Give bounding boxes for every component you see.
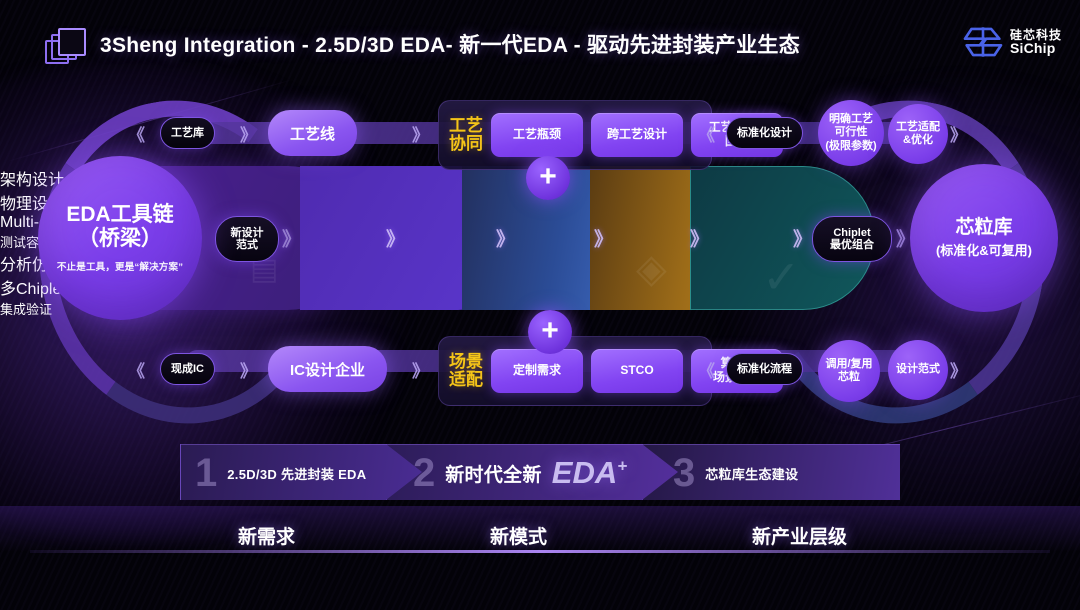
base-label-new-demand: 新需求 [238, 522, 295, 549]
flow-node-process-line[interactable]: 工艺线 [268, 110, 357, 156]
flow-back-arrow: 《 [698, 121, 715, 146]
plus-badge-bottom[interactable]: + [528, 310, 572, 354]
base-divider [30, 550, 1050, 553]
flow-group-title: 场景适配 [449, 353, 483, 390]
flow-arrow: 》 [240, 121, 257, 146]
end-node-eda-toolchain[interactable]: EDA工具链 （桥梁） 不止是工具，更是“解决方案” [38, 156, 202, 320]
band-chevron: 》 [496, 225, 515, 252]
roadmap-step-3[interactable]: 3 芯粒库生态建设 [642, 444, 902, 502]
flow-bubble-process-feasibility[interactable]: 明确工艺 可行性 (极限参数) [818, 100, 884, 166]
flow-chip-cross-process-design[interactable]: 跨工艺设计 [591, 113, 683, 157]
flow-arrow: 》 [412, 121, 429, 146]
base-label-new-model: 新模式 [490, 522, 547, 549]
flow-arrow: 》 [950, 121, 967, 146]
roadmap-step-2[interactable]: 2 新时代全新 EDA+ [386, 444, 688, 502]
base-label-new-industry-tier: 新产业层级 [752, 522, 847, 549]
flow-bubble-process-optimization[interactable]: 工艺适配 &优化 [888, 104, 948, 164]
flow-pill-standardized-process[interactable]: 标准化流程 [726, 353, 803, 385]
flow-bubble-reuse-chiplet[interactable]: 调用/复用 芯粒 [818, 340, 880, 402]
flow-bubble-design-paradigm[interactable]: 设计范式 [888, 340, 948, 400]
end-node-subtitle: (标准化&可复用) [936, 240, 1032, 259]
flow-row-process: 《 工艺库 》 工艺线 》 工艺协同 工艺瓶颈 跨工艺设计 工艺仿真&回调 [150, 104, 940, 162]
band-chevron: 》 [690, 225, 709, 252]
flow-group-process-collab: 工艺协同 工艺瓶颈 跨工艺设计 工艺仿真&回调 [438, 100, 712, 170]
roadmap-step-1[interactable]: 1 2.5D/3D 先进封装 EDA [180, 444, 432, 502]
flow-back-arrow: 《 [128, 121, 145, 146]
flow-group-title: 工艺协同 [449, 117, 483, 154]
end-node-title-2: （桥梁） [78, 227, 162, 251]
band-chevron: 》 [594, 225, 613, 252]
roadmap-step-label: 芯粒库生态建设 [705, 464, 798, 483]
flow-back-arrow: 《 [698, 357, 715, 382]
end-node-note: 不止是工具，更是“解决方案” [57, 259, 183, 273]
band-chevron: 》 [386, 225, 405, 252]
flow-arrow: 》 [950, 357, 967, 382]
roadmap-step-label: 2.5D/3D 先进封装 EDA [227, 464, 366, 483]
roadmap-step-label: 新时代全新 [445, 460, 542, 487]
stacked-squares-icon [45, 28, 87, 66]
pill-chiplet-optimal-combo[interactable]: Chiplet 最优组合 [812, 216, 892, 262]
band-chevron: 》 [793, 225, 812, 252]
roadmap-step-number: 1 [195, 453, 217, 493]
slide-canvas: 3Sheng Integration - 2.5D/3D EDA- 新一代EDA… [0, 0, 1080, 610]
header: 3Sheng Integration - 2.5D/3D EDA- 新一代EDA… [0, 0, 1080, 88]
roadmap-chevrons: 1 2.5D/3D 先进封装 EDA 2 新时代全新 EDA+ 3 芯粒库生态建… [180, 444, 900, 506]
flow-pill-process-library[interactable]: 工艺库 [160, 117, 215, 149]
base-strip: 新需求 新模式 新产业层级 [0, 506, 1080, 566]
flow-chip-stco[interactable]: STCO [591, 349, 683, 393]
brand-logo: 硅芯科技 SiChip [963, 24, 1062, 60]
flow-chip-process-bottleneck[interactable]: 工艺瓶颈 [491, 113, 583, 157]
end-node-chiplet-library[interactable]: 芯粒库 (标准化&可复用) [910, 164, 1058, 312]
flow-node-ic-design-company[interactable]: IC设计企业 [268, 346, 387, 392]
flow-back-arrow: 《 [128, 357, 145, 382]
pill-new-design-paradigm[interactable]: 新设计 范式 [215, 216, 279, 262]
brand-name-en: SiChip [1010, 41, 1062, 55]
flow-pill-existing-ic[interactable]: 现成IC [160, 353, 215, 385]
end-node-title: 芯粒库 [955, 217, 1012, 238]
eda-plus-wordmark: EDA+ [552, 455, 627, 491]
plus-badge-top[interactable]: + [526, 156, 570, 200]
sichip-logo-icon [963, 24, 1003, 60]
band-chevron: 》 [282, 225, 301, 252]
flow-group-scenario-adapt: 场景适配 定制需求 STCO 算法&场景适配 [438, 336, 712, 406]
flow-pill-standardized-design[interactable]: 标准化设计 [726, 117, 803, 149]
page-title: 3Sheng Integration - 2.5D/3D EDA- 新一代EDA… [100, 29, 800, 59]
flow-arrow: 》 [412, 357, 429, 382]
flow-arrow: 》 [240, 357, 257, 382]
flow-chip-custom-requirement[interactable]: 定制需求 [491, 349, 583, 393]
end-node-title: EDA工具链 [66, 203, 173, 227]
